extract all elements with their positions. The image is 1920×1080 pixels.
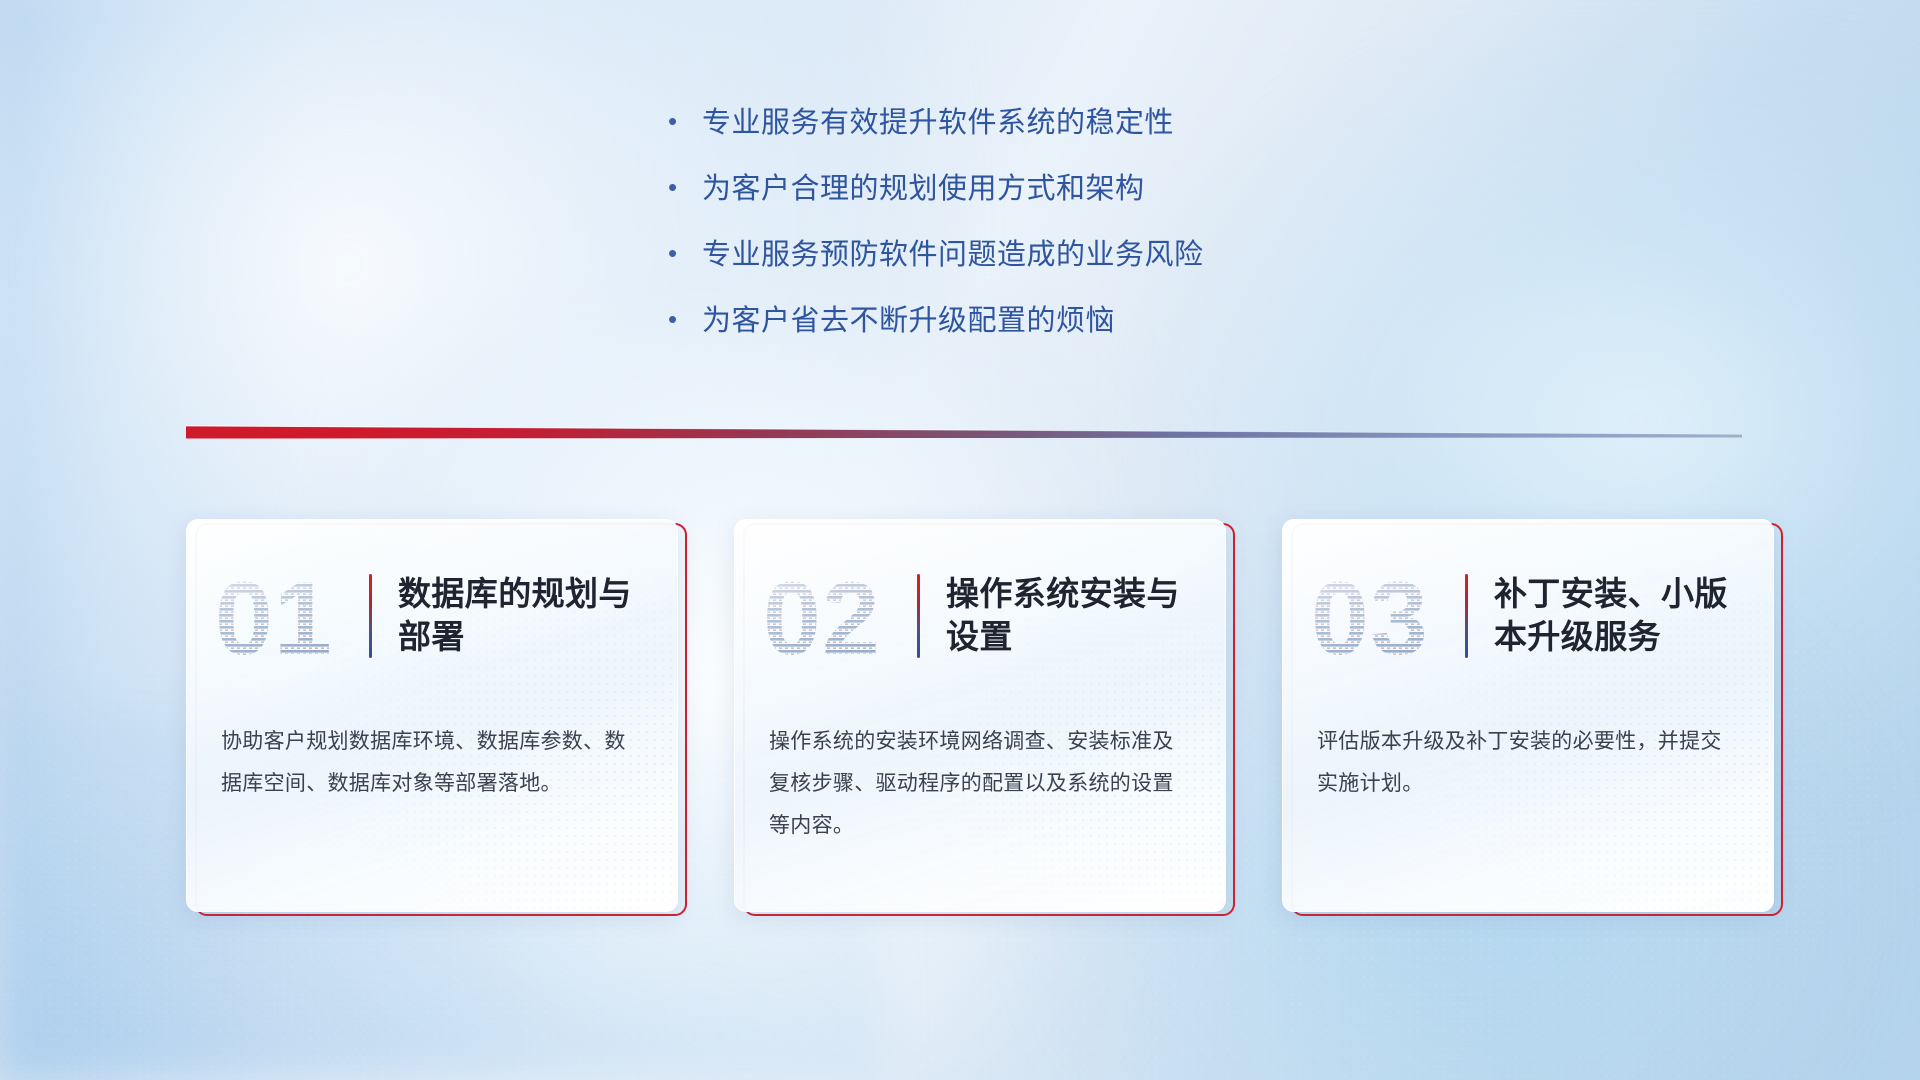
svg-text:02: 02 — [763, 561, 881, 672]
card-description: 协助客户规划数据库环境、数据库参数、数据库空间、数据库对象等部署落地。 — [187, 677, 677, 805]
card-accent-rule — [917, 574, 920, 658]
card-description: 操作系统的安装环境网络调查、安装标准及复核步骤、驱动程序的配置以及系统的设置等内… — [735, 677, 1225, 847]
slide-canvas: • 专业服务有效提升软件系统的稳定性 • 为客户合理的规划使用方式和架构 • 专… — [0, 0, 1920, 1080]
card-number-graphic: 01 — [213, 560, 353, 672]
card-description: 评估版本升级及补丁安装的必要性，并提交实施计划。 — [1283, 677, 1773, 805]
card-title: 补丁安装、小版本升级服务 — [1494, 573, 1747, 659]
card-surface: 03 补丁安装、小版本升级服务 评估版本升级及补丁安装的必要性，并提交实施计划。 — [1282, 519, 1774, 912]
bullet-dot-icon: • — [668, 108, 702, 134]
card-header: 03 补丁安装、小版本升级服务 — [1283, 520, 1773, 677]
card-number-graphic: 02 — [761, 560, 901, 672]
svg-text:01: 01 — [215, 561, 333, 672]
card-accent-rule — [1465, 574, 1468, 658]
card-surface: 01 数据库的规划与部署 协助客户规划数据库环境、数据库参数、数据库空间、数据库… — [186, 519, 678, 912]
bullet-text: 为客户合理的规划使用方式和架构 — [702, 170, 1145, 209]
service-card[interactable]: 01 数据库的规划与部署 协助客户规划数据库环境、数据库参数、数据库空间、数据库… — [186, 519, 678, 912]
service-card[interactable]: 03 补丁安装、小版本升级服务 评估版本升级及补丁安装的必要性，并提交实施计划。 — [1282, 519, 1774, 912]
card-number-graphic: 03 — [1309, 560, 1449, 672]
service-card[interactable]: 02 操作系统安装与设置 操作系统的安装环境网络调查、安装标准及复核步骤、驱动程… — [734, 519, 1226, 912]
bullet-dot-icon: • — [668, 306, 702, 332]
bullet-item: • 专业服务有效提升软件系统的稳定性 — [668, 104, 1408, 143]
card-header: 01 数据库的规划与部署 — [187, 520, 677, 677]
bullet-item: • 为客户合理的规划使用方式和架构 — [668, 170, 1408, 209]
benefits-bullet-list: • 专业服务有效提升软件系统的稳定性 • 为客户合理的规划使用方式和架构 • 专… — [668, 104, 1408, 367]
card-accent-rule — [369, 574, 372, 658]
bullet-item: • 为客户省去不断升级配置的烦恼 — [668, 302, 1408, 341]
bullet-dot-icon: • — [668, 240, 702, 266]
svg-text:03: 03 — [1311, 561, 1429, 672]
card-title: 数据库的规划与部署 — [398, 573, 651, 659]
bullet-text: 专业服务预防软件问题造成的业务风险 — [702, 236, 1204, 275]
bullet-item: • 专业服务预防软件问题造成的业务风险 — [668, 236, 1408, 275]
card-surface: 02 操作系统安装与设置 操作系统的安装环境网络调查、安装标准及复核步骤、驱动程… — [734, 519, 1226, 912]
card-title: 操作系统安装与设置 — [946, 573, 1199, 659]
card-header: 02 操作系统安装与设置 — [735, 520, 1225, 677]
bullet-dot-icon: • — [668, 174, 702, 200]
bullet-text: 为客户省去不断升级配置的烦恼 — [702, 302, 1115, 341]
section-divider — [186, 424, 1742, 450]
service-cards-row: 01 数据库的规划与部署 协助客户规划数据库环境、数据库参数、数据库空间、数据库… — [186, 519, 1776, 912]
bullet-text: 专业服务有效提升软件系统的稳定性 — [702, 104, 1174, 143]
